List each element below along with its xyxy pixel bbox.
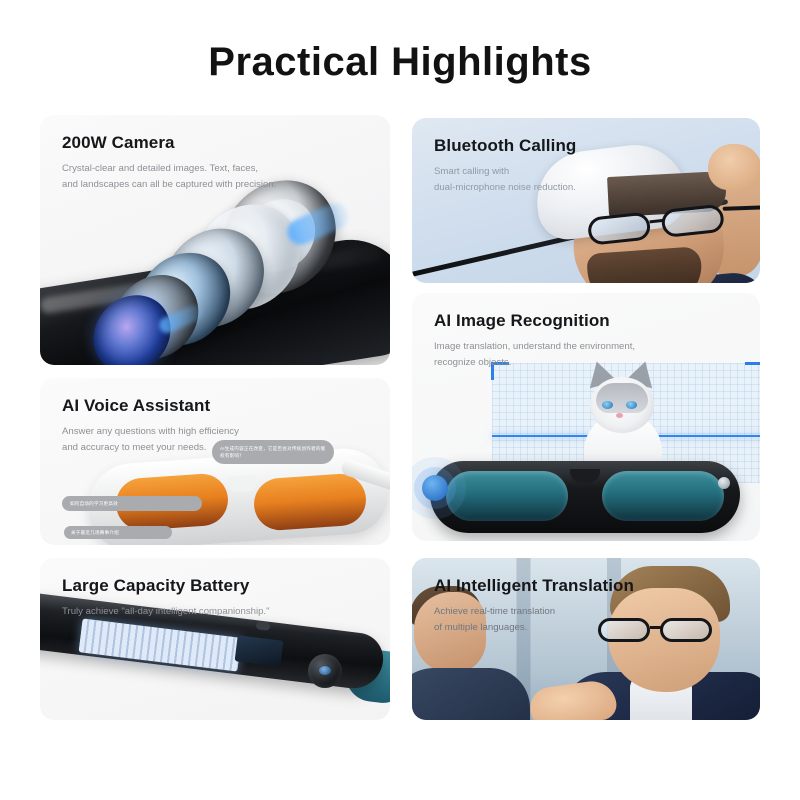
screw-detail: [256, 621, 271, 631]
feature-card-translation[interactable]: AI Intelligent Translation Achieve real-…: [412, 558, 760, 720]
circuit-chip: [235, 635, 284, 666]
feature-card-battery[interactable]: Large Capacity Battery Truly achieve "al…: [40, 558, 390, 720]
glasses-lens-right: [252, 472, 367, 532]
feature-card-voice-assistant[interactable]: AI生成内容正在改变，它是否会对传统创作者的版权有影响？ 如何自动的学习更高效 …: [40, 378, 390, 545]
scan-corner-top-right-icon: [745, 362, 760, 380]
person-left: [412, 592, 520, 720]
head-shape: [414, 592, 486, 674]
highlights-page: Practical Highlights 200W Camera Crystal…: [0, 0, 800, 800]
glasses-lens-right: [660, 204, 725, 238]
glasses-lens-right: [660, 618, 712, 642]
cat-eye-right: [626, 401, 637, 409]
glasses-lens-left: [598, 618, 650, 642]
page-title: Practical Highlights: [0, 40, 800, 85]
cat-nose: [616, 413, 623, 418]
cat-eye-left: [602, 401, 613, 409]
chat-bubble-tertiary: 关于最近几场赛事介绍: [64, 526, 172, 539]
camera-lens-illustration: [40, 115, 390, 365]
chat-bubble-query: AI生成内容正在改变，它是否会对传统创作者的版权有影响？: [212, 440, 334, 464]
card-title: Large Capacity Battery: [62, 576, 368, 596]
card-title: AI Image Recognition: [434, 311, 738, 331]
smart-glasses-illustration: [430, 461, 740, 533]
chat-bubble-secondary: 如何自动的学习更高效: [62, 496, 202, 511]
glasses-lens-left: [587, 211, 652, 245]
glasses-camera-icon: [422, 475, 448, 501]
hand-shape: [708, 144, 760, 190]
smart-glasses-icon: [598, 618, 726, 644]
feature-card-bluetooth[interactable]: Bluetooth Calling Smart calling with dua…: [412, 118, 760, 283]
glasses-indicator-dot: [718, 477, 730, 489]
cat-face-mask: [596, 383, 648, 413]
glasses-lens-right: [602, 471, 724, 521]
card-title: AI Voice Assistant: [62, 396, 368, 416]
feature-card-grid: 200W Camera Crystal-clear and detailed i…: [40, 115, 760, 720]
glasses-lens-left: [446, 471, 568, 521]
feature-card-image-recognition[interactable]: AI Image Recognition Image translation, …: [412, 293, 760, 541]
scan-corner-top-left-icon: [491, 362, 509, 380]
camera-module-icon: [308, 654, 342, 688]
torso-shape: [412, 668, 530, 720]
feature-card-camera[interactable]: 200W Camera Crystal-clear and detailed i…: [40, 115, 390, 365]
